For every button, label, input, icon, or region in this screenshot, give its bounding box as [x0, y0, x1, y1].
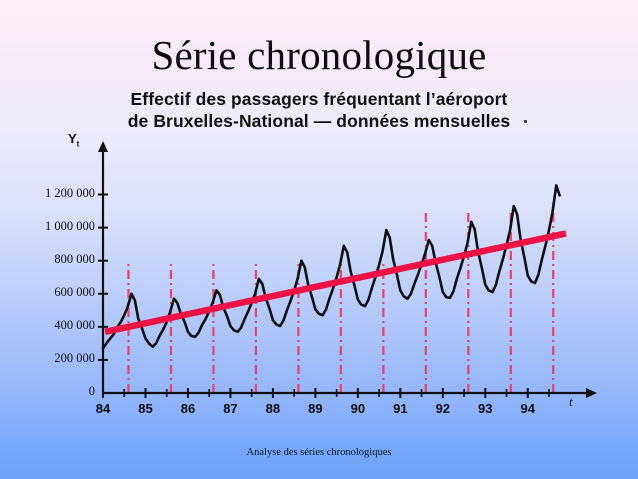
y-axis-tick-label: 400 000: [0, 318, 95, 333]
series-line-passengers: [103, 185, 560, 348]
y-axis-tick-label: 0: [0, 384, 95, 399]
x-axis-tick-label: 85: [125, 401, 165, 416]
x-axis-tick-label: 86: [168, 401, 208, 416]
y-axis-tick-label: 200 000: [0, 351, 95, 366]
x-axis-tick-label: 89: [295, 401, 335, 416]
slide: Série chronologique Effectif des passage…: [0, 0, 638, 479]
y-axis-arrowhead: [98, 141, 108, 152]
x-axis-tick-label: 84: [83, 401, 123, 416]
x-axis-tick-label: 92: [423, 401, 463, 416]
x-axis-tick-label: 94: [508, 401, 548, 416]
y-axis-tick-label: 600 000: [0, 285, 95, 300]
x-axis-tick-label: 91: [380, 401, 420, 416]
x-axis-arrowhead: [586, 388, 597, 398]
y-axis-tick-label: 1 000 000: [0, 219, 95, 234]
x-axis-tick-label: 87: [210, 401, 250, 416]
y-axis-tick-label: 800 000: [0, 252, 95, 267]
x-axis-tick-label: 93: [465, 401, 505, 416]
x-axis-tick-label: 88: [253, 401, 293, 416]
y-axis-tick-label: 1 200 000: [0, 186, 95, 201]
slide-footer: Analyse des séries chronologiques: [0, 447, 638, 458]
x-axis-tick-label: 90: [338, 401, 378, 416]
